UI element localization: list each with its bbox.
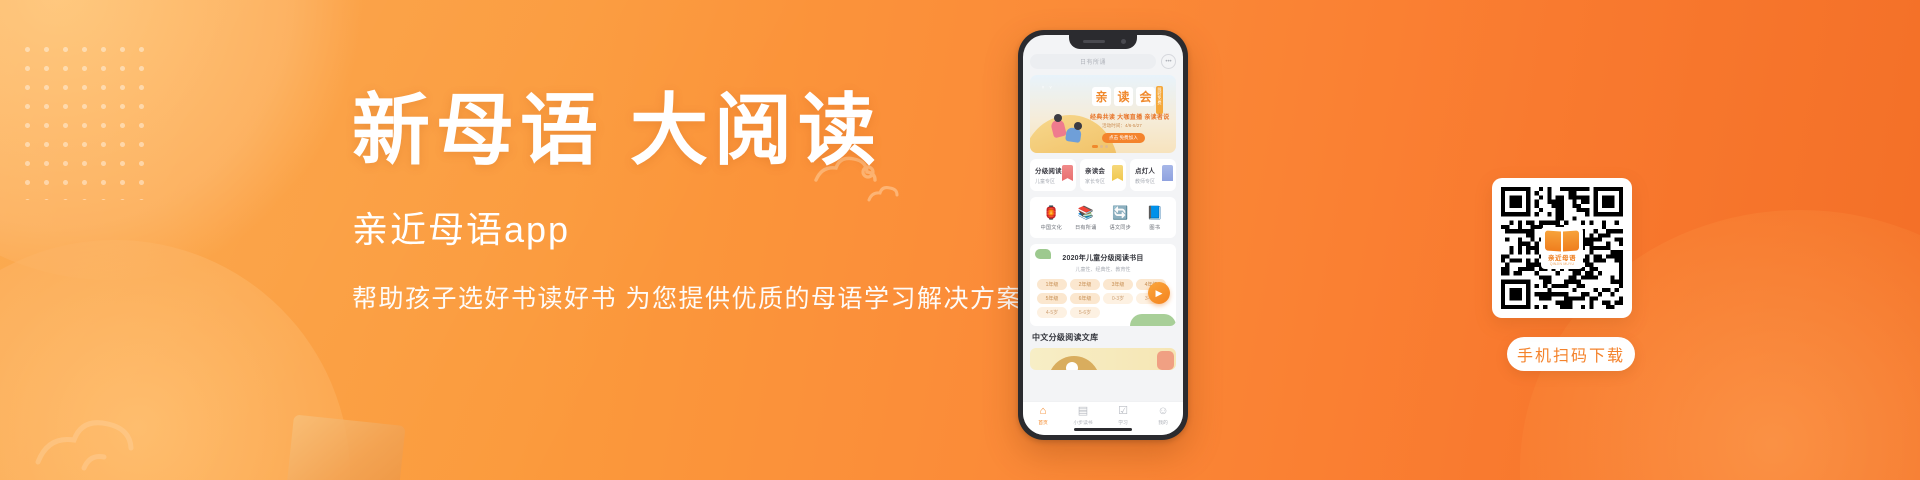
library-card[interactable]	[1030, 348, 1176, 370]
leaf-icon	[1035, 249, 1051, 259]
home-indicator	[1074, 428, 1132, 431]
books-icon: 📚	[1069, 205, 1104, 220]
hero-title-char-3: 会	[1136, 87, 1155, 106]
app-search-row: 日有所诵 •••	[1030, 54, 1176, 69]
tab-home[interactable]: ⌂ 首页	[1023, 406, 1063, 426]
list-item[interactable]: 点灯人 教师专区	[1130, 159, 1176, 191]
hero-date: 活动时间：4/6-5/27	[1102, 123, 1142, 129]
checklist-icon: ☑	[1103, 406, 1143, 417]
tab-label: 首页	[1023, 419, 1063, 426]
grade-chip[interactable]: 5年级	[1037, 293, 1067, 304]
quick-link-label: 日有所诵	[1069, 224, 1104, 231]
app-booklist-section: 2020年儿童分级阅读书目 儿童性、经典性、教育性 1年级 2年级 3年级 4年…	[1030, 244, 1176, 326]
promo-banner: 新母语大阅读 亲近母语app 帮助孩子选好书读好书 为您提供优质的母语学习解决方…	[0, 0, 1920, 480]
app-quick-links: 🏮 中国文化 📚 日有所诵 🔄 语文同步 📘 图书	[1030, 197, 1176, 238]
tab-label: 我的	[1143, 419, 1183, 426]
library-section-title: 中文分级阅读文库	[1030, 332, 1176, 343]
qr-code[interactable]: 亲近母语 QINJIN MUYU	[1492, 178, 1632, 318]
tab-label: 学习	[1103, 419, 1143, 426]
booklist-subtitle: 儿童性、经典性、教育性	[1037, 266, 1169, 273]
decorative-cube	[282, 414, 405, 480]
quick-link-books[interactable]: 📘 图书	[1138, 205, 1173, 231]
search-input[interactable]: 日有所诵	[1030, 54, 1156, 69]
age-chip[interactable]: 4-5岁	[1037, 307, 1067, 318]
booklist-title: 2020年儿童分级阅读书目	[1037, 253, 1169, 263]
quick-link-label: 语文同步	[1103, 224, 1138, 231]
app-hero-banner[interactable]: ᵛ ᵛ 亲 读 会 限时免费 经典共读 大咖直播 亲读者说 活动时间：4/6-5…	[1030, 75, 1176, 153]
headline-part-2: 大阅读	[630, 87, 882, 174]
download-button[interactable]: 手机扫码下载	[1507, 337, 1635, 371]
quick-link-culture[interactable]: 🏮 中国文化	[1034, 205, 1069, 231]
hero-carousel-dots[interactable]	[1092, 145, 1108, 148]
book-icon: 📘	[1138, 205, 1173, 220]
quick-link-recite[interactable]: 📚 日有所诵	[1069, 205, 1104, 231]
grade-chip[interactable]: 2年级	[1070, 279, 1100, 290]
list-item[interactable]: 亲读会 家长专区	[1080, 159, 1126, 191]
quick-link-sync[interactable]: 🔄 语文同步	[1103, 205, 1138, 231]
banner-tagline: 帮助孩子选好书读好书 为您提供优质的母语学习解决方案	[352, 283, 1052, 316]
hero-child-2-head	[1074, 122, 1082, 130]
grade-chip[interactable]: 6年级	[1070, 293, 1100, 304]
brand-name: 亲近母语	[1548, 252, 1576, 262]
grade-chip[interactable]: 1年级	[1037, 279, 1067, 290]
phone-mockup: 日有所诵 ••• ᵛ ᵛ 亲 读 会 限时免费 经典共读	[1018, 30, 1188, 440]
brand-logo: 亲近母语 QINJIN MUYU	[1541, 227, 1583, 269]
home-icon: ⌂	[1023, 406, 1063, 417]
hero-title: 亲 读 会	[1092, 87, 1155, 106]
open-book-icon	[1545, 231, 1579, 251]
quick-link-label: 中国文化	[1034, 224, 1069, 231]
decorative-blob-top-left	[0, 0, 370, 280]
hero-child-1-head	[1054, 114, 1062, 122]
quick-link-label: 图书	[1138, 224, 1173, 231]
decorative-cloud-bottom-left-icon	[32, 406, 152, 472]
phone-notch	[1069, 35, 1137, 49]
hero-title-char-1: 亲	[1092, 87, 1111, 106]
list-item[interactable]: 分级阅读 儿童专区	[1030, 159, 1076, 191]
sync-icon: 🔄	[1103, 205, 1138, 220]
tab-reading[interactable]: ▤ 小步读书	[1063, 406, 1103, 426]
headline-part-1: 新母语	[352, 87, 604, 174]
decorative-green-hill	[1130, 314, 1176, 326]
banner-copy: 新母语大阅读 亲近母语app 帮助孩子选好书读好书 为您提供优质的母语学习解决方…	[352, 92, 1052, 316]
decorative-dot-grid	[18, 40, 148, 200]
app-name-subhead: 亲近母语app	[352, 208, 1052, 251]
lantern-icon: 🏮	[1034, 205, 1069, 220]
person-icon	[1162, 165, 1173, 181]
list-icon: ▤	[1063, 406, 1103, 417]
decorative-blob-bottom-left	[0, 240, 350, 480]
hero-title-char-2: 读	[1114, 87, 1133, 106]
hero-birds-icon: ᵛ ᵛ	[1042, 86, 1054, 92]
hero-join-button[interactable]: 点击 免费加入	[1102, 133, 1145, 143]
age-chip[interactable]: 5-6岁	[1070, 307, 1100, 318]
tab-label: 小步读书	[1063, 419, 1103, 426]
more-icon[interactable]: •••	[1161, 54, 1176, 69]
app-category-cards: 分级阅读 儿童专区 亲读会 家长专区 点灯人 教师专区	[1030, 159, 1176, 191]
user-icon: ☺	[1143, 406, 1183, 417]
hero-badge: 限时免费	[1156, 86, 1163, 114]
page-title: 新母语大阅读	[352, 92, 1052, 170]
age-chip[interactable]: 0-3岁	[1103, 293, 1133, 304]
play-video-icon[interactable]: ▶	[1148, 282, 1170, 304]
brand-name-en: QINJIN MUYU	[1550, 262, 1574, 266]
tab-profile[interactable]: ☺ 我的	[1143, 406, 1183, 426]
phone-screen: 日有所诵 ••• ᵛ ᵛ 亲 读 会 限时免费 经典共读	[1023, 35, 1183, 435]
grade-chip[interactable]: 3年级	[1103, 279, 1133, 290]
qr-download-block: 亲近母语 QINJIN MUYU 手机扫码下载	[1492, 178, 1650, 371]
tab-study[interactable]: ☑ 学习	[1103, 406, 1143, 426]
hero-subtitle: 经典共读 大咖直播 亲读者说	[1090, 112, 1170, 121]
